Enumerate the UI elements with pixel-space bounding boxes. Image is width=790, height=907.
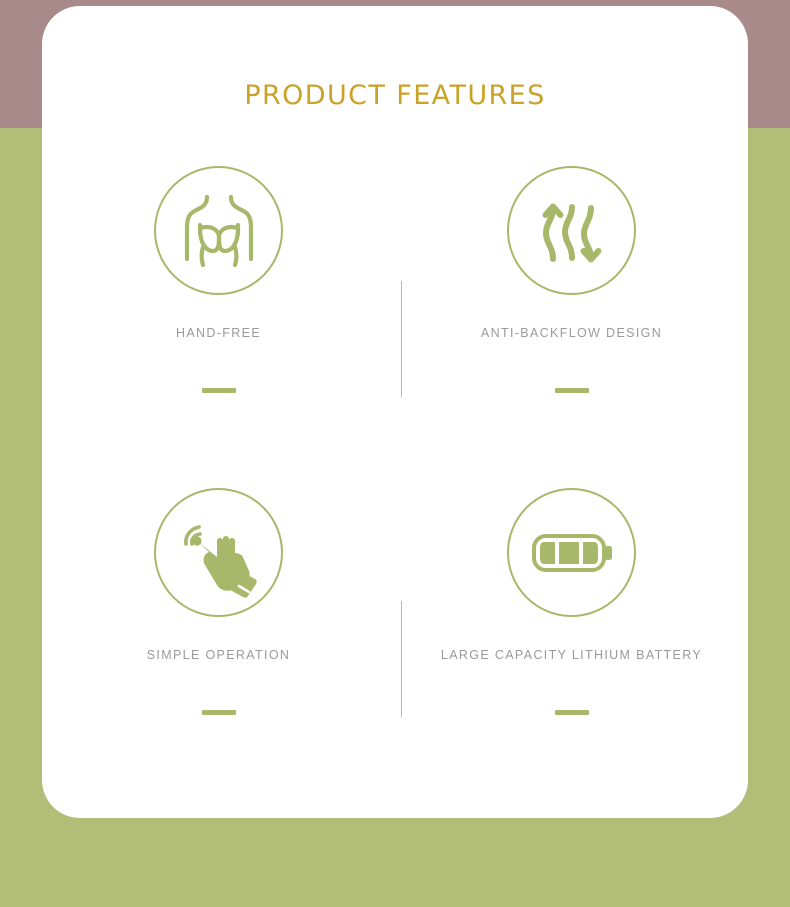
feature-item-large-capacity-lithium-battery[interactable]: LARGE CAPACITY LITHIUM BATTERY: [395, 488, 748, 715]
features-grid: HAND-FREE ANTI-BA: [42, 166, 748, 786]
feature-dash: [202, 388, 236, 393]
feature-item-hand-free[interactable]: HAND-FREE: [42, 166, 395, 393]
feature-card: PRODUCT FEATURES: [42, 6, 748, 818]
feature-dash: [555, 710, 589, 715]
page-title: PRODUCT FEATURES: [42, 80, 748, 111]
product-features-page: PRODUCT FEATURES: [0, 0, 790, 907]
feature-label: ANTI-BACKFLOW DESIGN: [395, 326, 748, 340]
feature-item-simple-operation[interactable]: SIMPLE OPERATION: [42, 488, 395, 715]
feature-item-anti-backflow-design[interactable]: ANTI-BACKFLOW DESIGN: [395, 166, 748, 393]
feature-label: LARGE CAPACITY LITHIUM BATTERY: [395, 648, 748, 662]
feature-dash: [202, 710, 236, 715]
hands-free-bra-torso-icon: [154, 166, 283, 295]
wavy-flow-arrows-icon: [507, 166, 636, 295]
feature-label: HAND-FREE: [42, 326, 395, 340]
tapping-hand-icon: [154, 488, 283, 617]
feature-label: SIMPLE OPERATION: [42, 648, 395, 662]
battery-full-icon: [507, 488, 636, 617]
feature-dash: [555, 388, 589, 393]
